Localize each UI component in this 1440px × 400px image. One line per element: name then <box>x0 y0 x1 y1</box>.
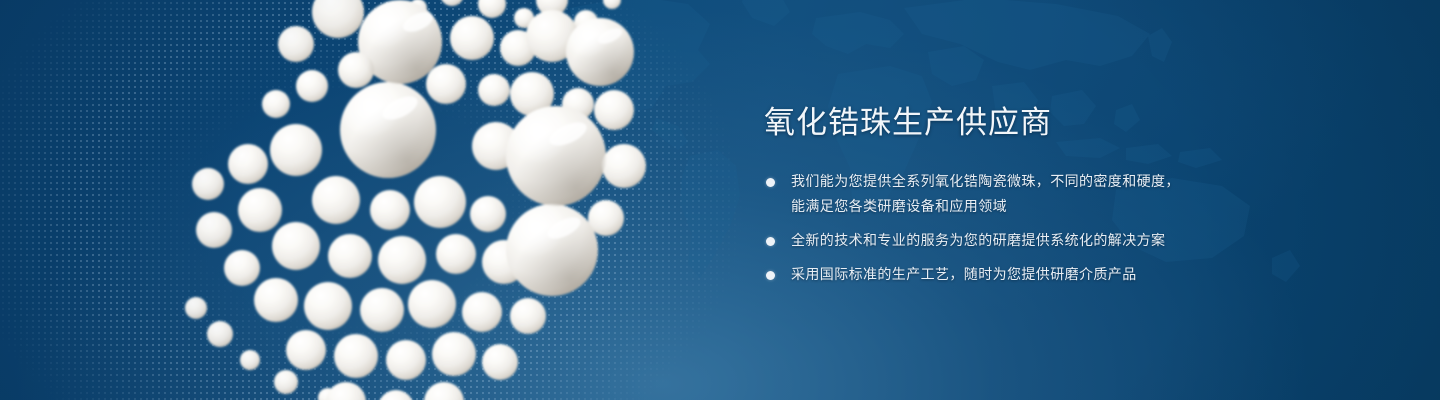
feature-bullet-list: 我们能为您提供全系列氧化锆陶瓷微珠，不同的密度和硬度， 能满足您各类研磨设备和应… <box>764 169 1234 287</box>
bullet-line: 全新的技术和专业的服务为您的研磨提供系统化的解决方案 <box>791 232 1165 248</box>
bullet-line: 能满足您各类研磨设备和应用领域 <box>791 198 1007 214</box>
banner-headline: 氧化锆珠生产供应商 <box>764 104 1234 142</box>
feature-bullet-item: 采用国际标准的生产工艺，随时为您提供研磨介质产品 <box>764 262 1234 287</box>
hero-banner: 氧化锆珠生产供应商 我们能为您提供全系列氧化锆陶瓷微珠，不同的密度和硬度， 能满… <box>0 0 1440 400</box>
feature-bullet-item: 全新的技术和专业的服务为您的研磨提供系统化的解决方案 <box>764 228 1234 253</box>
bullet-line: 我们能为您提供全系列氧化锆陶瓷微珠，不同的密度和硬度， <box>791 173 1180 189</box>
bullet-dot-icon <box>766 271 775 280</box>
bullet-line: 采用国际标准的生产工艺，随时为您提供研磨介质产品 <box>791 266 1137 282</box>
bullet-dot-icon <box>766 178 775 187</box>
feature-bullet-item: 我们能为您提供全系列氧化锆陶瓷微珠，不同的密度和硬度， 能满足您各类研磨设备和应… <box>764 169 1234 219</box>
bullet-dot-icon <box>766 237 775 246</box>
banner-copy: 氧化锆珠生产供应商 我们能为您提供全系列氧化锆陶瓷微珠，不同的密度和硬度， 能满… <box>764 104 1234 287</box>
